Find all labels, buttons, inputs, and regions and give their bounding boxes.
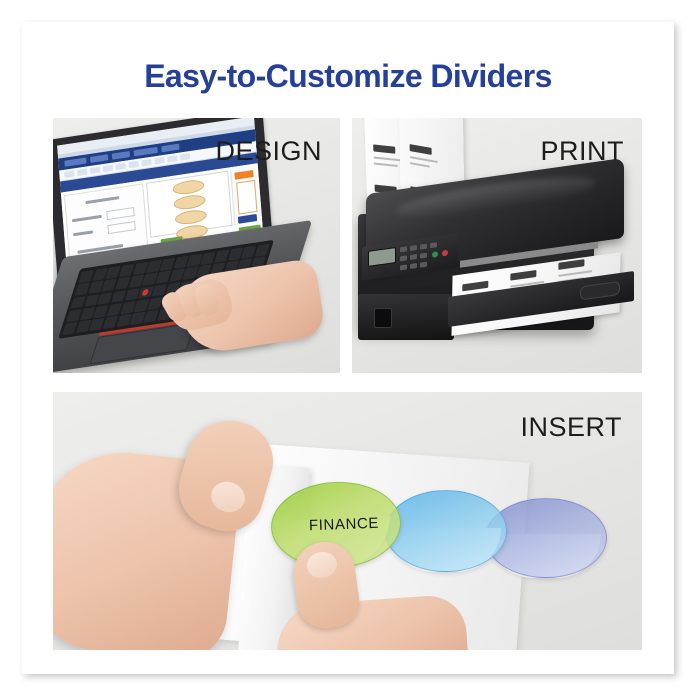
panel-design: DESIGN — [53, 118, 340, 373]
hand-on-keyboard — [163, 252, 313, 360]
panel-print: PRINT — [352, 118, 642, 373]
product-callout-card: Easy-to-Customize Dividers — [22, 22, 674, 674]
right-hand — [267, 550, 467, 650]
panel-insert: FINANCE INSERT — [53, 392, 642, 650]
printer-lcd-display — [368, 247, 396, 267]
page-title: Easy-to-Customize Dividers — [22, 58, 674, 95]
preview-sidebar — [230, 165, 261, 225]
step-label-insert: INSERT — [520, 412, 622, 443]
printer-card-slot — [374, 308, 392, 328]
divider-preview — [146, 171, 232, 238]
printer-stop-button — [442, 250, 448, 257]
step-label-print: PRINT — [541, 136, 625, 167]
left-hand — [53, 410, 293, 650]
printer-front-panel — [358, 294, 454, 340]
printer-start-button — [432, 251, 438, 258]
step-label-design: DESIGN — [215, 136, 322, 167]
tray-handle — [580, 281, 620, 301]
